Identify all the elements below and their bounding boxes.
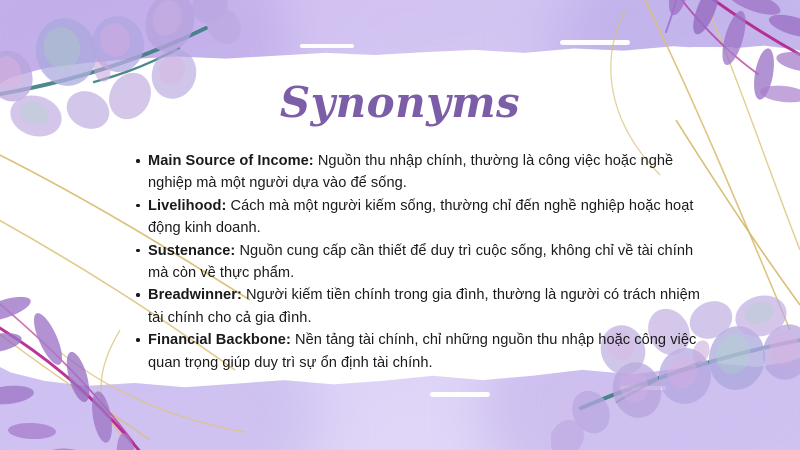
synonym-term: Main Source of Income: <box>148 153 314 169</box>
list-item: Financial Backbone: Nền tảng tài chính, … <box>148 329 704 374</box>
synonyms-list: Main Source of Income: Nguồn thu nhập ch… <box>128 150 704 374</box>
synonym-term: Financial Backbone: <box>148 332 291 348</box>
list-item: Livelihood: Cách mà một người kiếm sống,… <box>148 195 704 240</box>
slide-content: Synonyms Main Source of Income: Nguồn th… <box>0 0 800 450</box>
slide-canvas: Synonyms Main Source of Income: Nguồn th… <box>0 0 800 450</box>
synonym-definition: Cách mà một người kiếm sống, thường chỉ … <box>148 198 693 236</box>
list-item: Breadwinner: Người kiếm tiền chính trong… <box>148 284 704 329</box>
synonym-term: Livelihood: <box>148 198 226 214</box>
page-title: Synonyms <box>0 82 800 124</box>
synonym-term: Sustenance: <box>148 243 235 259</box>
synonym-term: Breadwinner: <box>148 287 242 303</box>
list-item: Main Source of Income: Nguồn thu nhập ch… <box>148 150 704 195</box>
list-item: Sustenance: Nguồn cung cấp cần thiết để … <box>148 240 704 285</box>
